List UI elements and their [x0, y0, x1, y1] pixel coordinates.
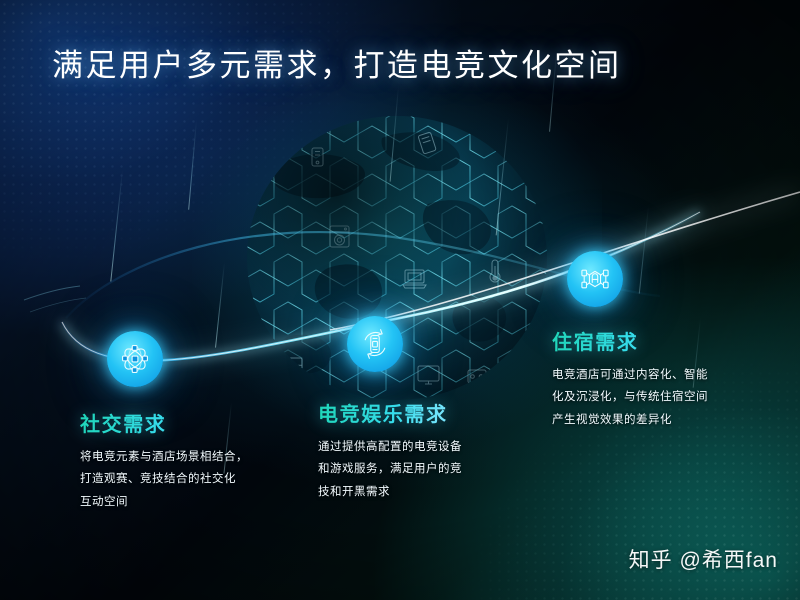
node-esports-entertainment[interactable]	[347, 316, 403, 372]
group-heading: 社交需求	[80, 408, 290, 437]
hex-hub-icon	[578, 262, 612, 296]
meteor-streak	[639, 206, 649, 294]
group-heading: 电竞娱乐需求	[318, 398, 518, 427]
globe-glow	[192, 68, 602, 448]
group-esports-entertainment: 电竞娱乐需求 通过提供高配置的电竞设备 和游戏服务，满足用户的竞 技和开黑需求	[318, 398, 518, 503]
page-title: 满足用户多元需求，打造电竞文化空间	[52, 40, 622, 85]
meteor-streak	[188, 120, 197, 210]
network-nodes-icon	[118, 342, 152, 376]
hex-globe	[232, 108, 562, 408]
group-social: 社交需求 将电竞元素与酒店场景相结合， 打造观赛、竞技结合的社交化 互动空间	[80, 408, 290, 513]
watermark: 知乎 @希西fan	[629, 544, 778, 574]
meteor-streak	[390, 86, 399, 182]
node-social[interactable]	[107, 331, 163, 387]
meteor-streak	[110, 170, 123, 281]
meteor-streak	[496, 118, 509, 235]
group-accommodation: 住宿需求 电竞酒店可通过内容化、智能 化及沉浸化，与传统住宿空间 产生视觉效果的…	[552, 326, 762, 431]
meteor-streak	[215, 262, 225, 348]
node-accommodation[interactable]	[567, 251, 623, 307]
globe-hex-mesh	[232, 108, 562, 408]
group-body: 通过提供高配置的电竞设备 和游戏服务，满足用户的竞 技和开黑需求	[318, 436, 518, 503]
group-heading: 住宿需求	[552, 326, 762, 355]
device-refresh-icon	[358, 327, 392, 361]
group-body: 将电竞元素与酒店场景相结合， 打造观赛、竞技结合的社交化 互动空间	[80, 446, 290, 513]
presentation-slide: 满足用户多元需求，打造电竞文化空间	[0, 0, 800, 600]
group-body: 电竞酒店可通过内容化、智能 化及沉浸化，与传统住宿空间 产生视觉效果的差异化	[552, 364, 762, 431]
